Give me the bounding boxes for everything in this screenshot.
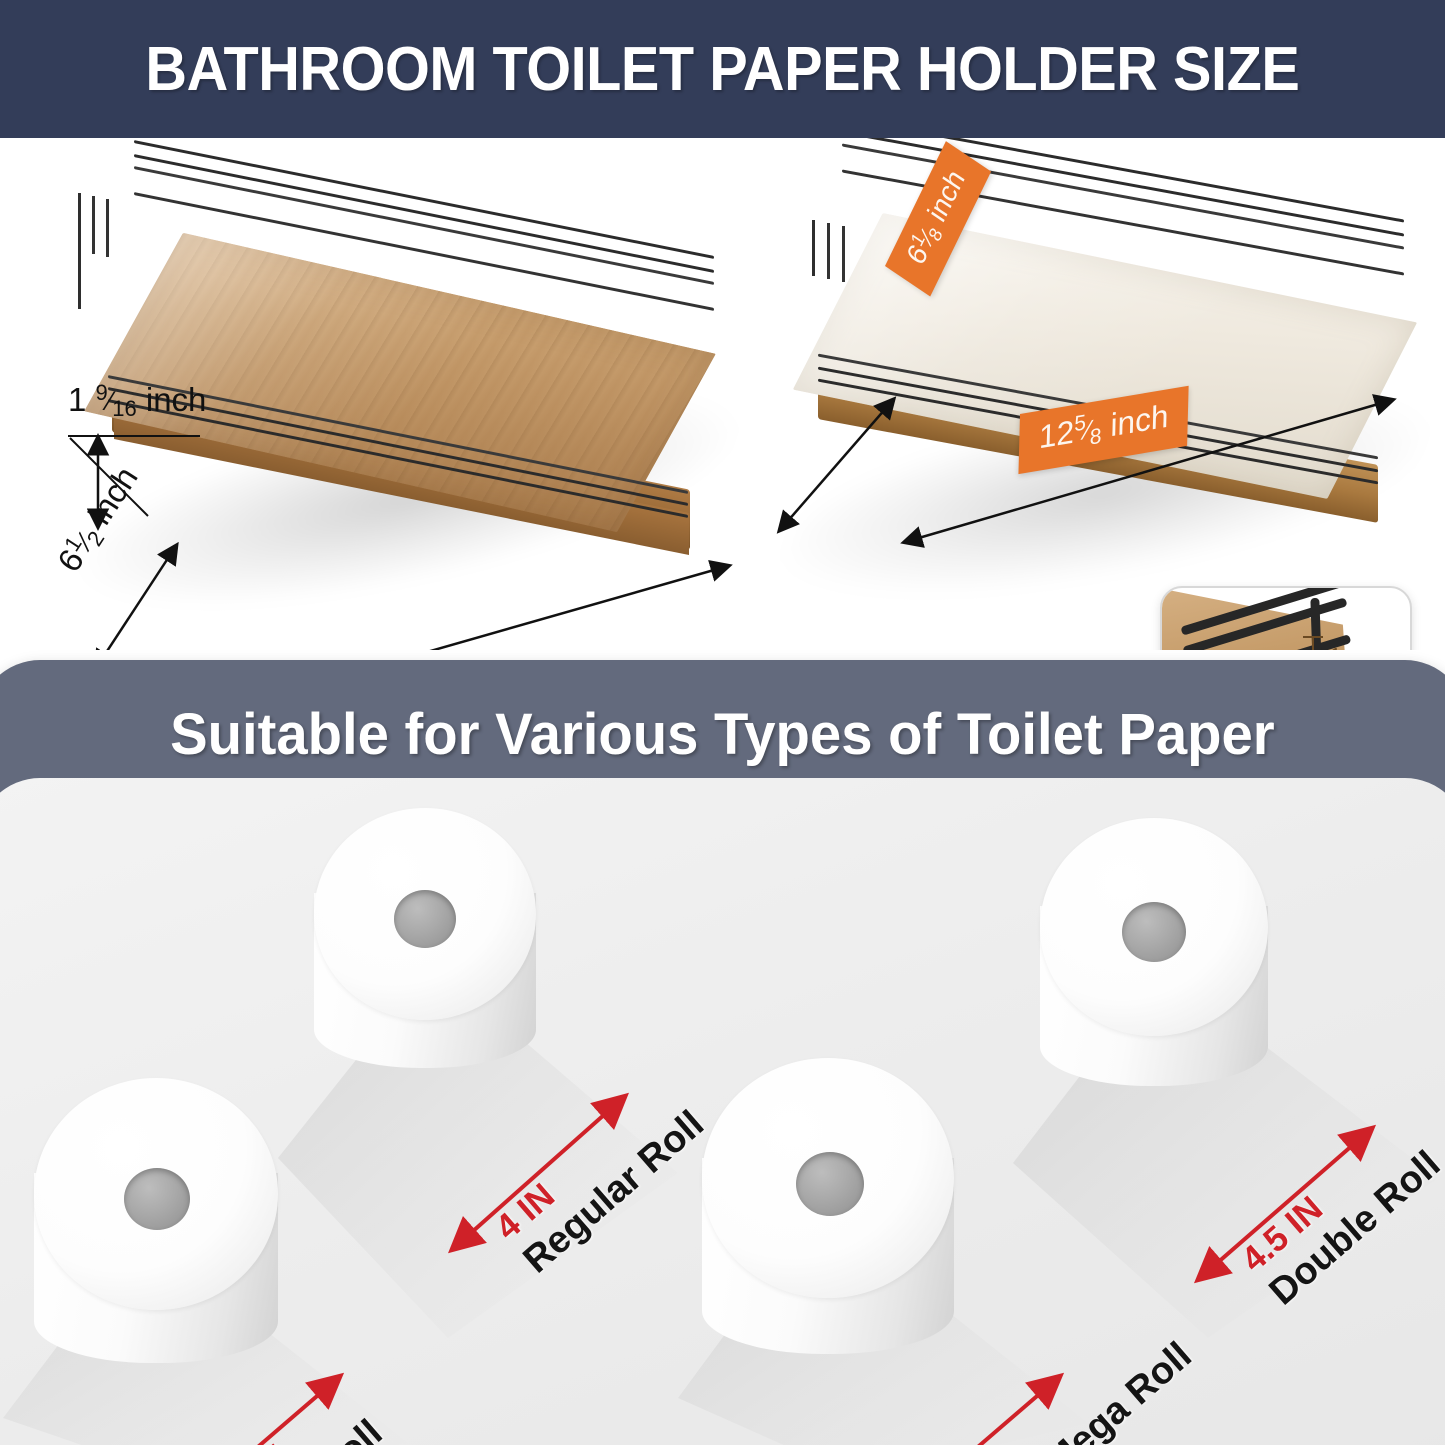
roll-stage: 4 IN Regular Roll 5.5 IN Mega Roll 6 IN …: [0, 778, 1445, 1445]
tray2-rail-left: [812, 220, 815, 276]
closeup-inset-card: 1⁄2 in: [1160, 586, 1412, 650]
roll-super-mega: [678, 1058, 970, 1398]
tray-rail-left: [78, 193, 81, 251]
page-title: BATHROOM TOILET PAPER HOLDER SIZE: [146, 34, 1300, 105]
roll-mega: [12, 1078, 294, 1408]
roll-core-hole: [1122, 902, 1186, 962]
dimensions-section: 1 9⁄16 inch 61⁄2 inch 13 inch 61⁄8 inch …: [0, 138, 1445, 650]
roll-core-hole: [124, 1168, 190, 1230]
header-banner: BATHROOM TOILET PAPER HOLDER SIZE: [0, 0, 1445, 138]
tray-rail-right: [78, 251, 81, 309]
roll-label-double: 4.5 IN Double Roll: [1234, 1111, 1445, 1314]
roll-double: [1018, 818, 1286, 1128]
roll-regular: [294, 808, 554, 1108]
roll-types-section: Suitable for Various Types of Toilet Pap…: [0, 650, 1445, 1445]
roll-core-hole: [394, 890, 456, 948]
closeup-wood-base: [1160, 586, 1353, 650]
caliper-icon: [1312, 636, 1314, 650]
roll-section-title: Suitable for Various Types of Toilet Pap…: [170, 701, 1275, 768]
product-image-tray-interior: [770, 158, 1430, 608]
label-tray-height: 1 9⁄16 inch: [68, 381, 206, 423]
roll-core-hole: [796, 1152, 864, 1216]
